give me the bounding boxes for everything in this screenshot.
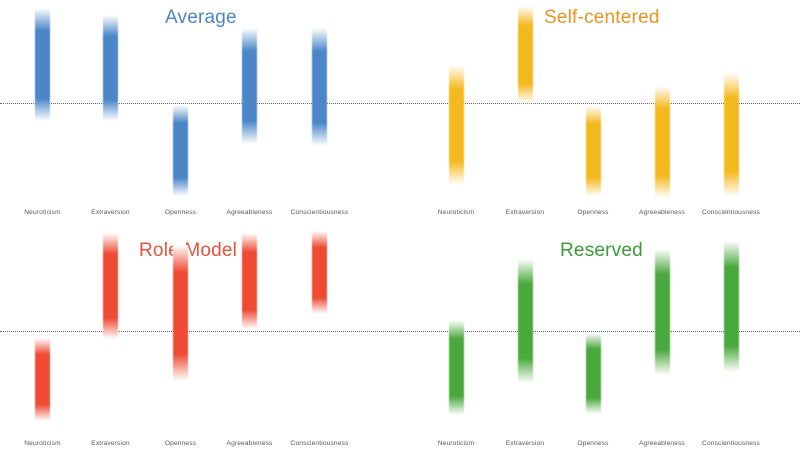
axis-label-extraversion: Extraversion: [91, 210, 129, 217]
axis-label-conscientiousness: Conscientiousness: [291, 210, 349, 217]
bar-extraversion: [103, 15, 118, 121]
bar-neuroticism: [35, 8, 50, 121]
zero-baseline: [0, 103, 400, 104]
axis-label-agreeableness: Agreeableness: [227, 441, 273, 448]
axis-label-openness: Openness: [577, 441, 608, 448]
bar-openness: [586, 333, 601, 414]
bar-conscientiousness: [724, 241, 739, 372]
panel-title-role-model: Role Model: [139, 241, 237, 260]
panel-self-centered: Self-centered NeuroticismExtraversionOpe…: [400, 0, 800, 232]
panel-role-model: Role Model NeuroticismExtraversionOpenne…: [0, 233, 400, 465]
axis-label-openness: Openness: [165, 210, 196, 217]
bar-conscientiousness: [312, 231, 327, 314]
axis-label-openness: Openness: [165, 441, 196, 448]
panel-title-average: Average: [165, 8, 237, 27]
axis-label-neuroticism: Neuroticism: [438, 441, 474, 448]
axis-label-neuroticism: Neuroticism: [438, 210, 474, 217]
bar-extraversion: [103, 233, 118, 339]
bar-agreeableness: [242, 28, 257, 144]
panel-average: Average NeuroticismExtraversionOpennessA…: [0, 0, 400, 232]
bar-extraversion: [518, 259, 533, 383]
bar-neuroticism: [449, 65, 464, 185]
axis-label-neuroticism: Neuroticism: [24, 210, 60, 217]
bar-neuroticism: [35, 338, 50, 421]
bar-conscientiousness: [312, 28, 327, 146]
zero-baseline: [0, 331, 400, 332]
personality-profiles-figure: Average NeuroticismExtraversionOpennessA…: [0, 0, 800, 465]
bar-openness: [586, 106, 601, 196]
panel-title-self-centered: Self-centered: [544, 8, 660, 27]
axis-label-agreeableness: Agreeableness: [639, 441, 685, 448]
bar-agreeableness: [655, 86, 670, 198]
bar-agreeableness: [655, 249, 670, 375]
panel-reserved: Reserved NeuroticismExtraversionOpenness…: [400, 233, 800, 465]
axis-label-extraversion: Extraversion: [91, 441, 129, 448]
axis-label-extraversion: Extraversion: [506, 441, 544, 448]
axis-label-conscientiousness: Conscientiousness: [702, 210, 760, 217]
bar-conscientiousness: [724, 73, 739, 196]
bar-openness: [173, 105, 188, 196]
axis-label-extraversion: Extraversion: [506, 210, 544, 217]
panel-title-reserved: Reserved: [560, 241, 643, 260]
axis-label-agreeableness: Agreeableness: [227, 210, 273, 217]
axis-label-openness: Openness: [577, 210, 608, 217]
bar-neuroticism: [449, 320, 464, 415]
axis-label-neuroticism: Neuroticism: [24, 441, 60, 448]
axis-label-conscientiousness: Conscientiousness: [702, 441, 760, 448]
axis-label-conscientiousness: Conscientiousness: [291, 441, 349, 448]
bar-openness: [173, 245, 188, 381]
bar-agreeableness: [242, 233, 257, 329]
bar-extraversion: [518, 6, 533, 103]
axis-label-agreeableness: Agreeableness: [639, 210, 685, 217]
